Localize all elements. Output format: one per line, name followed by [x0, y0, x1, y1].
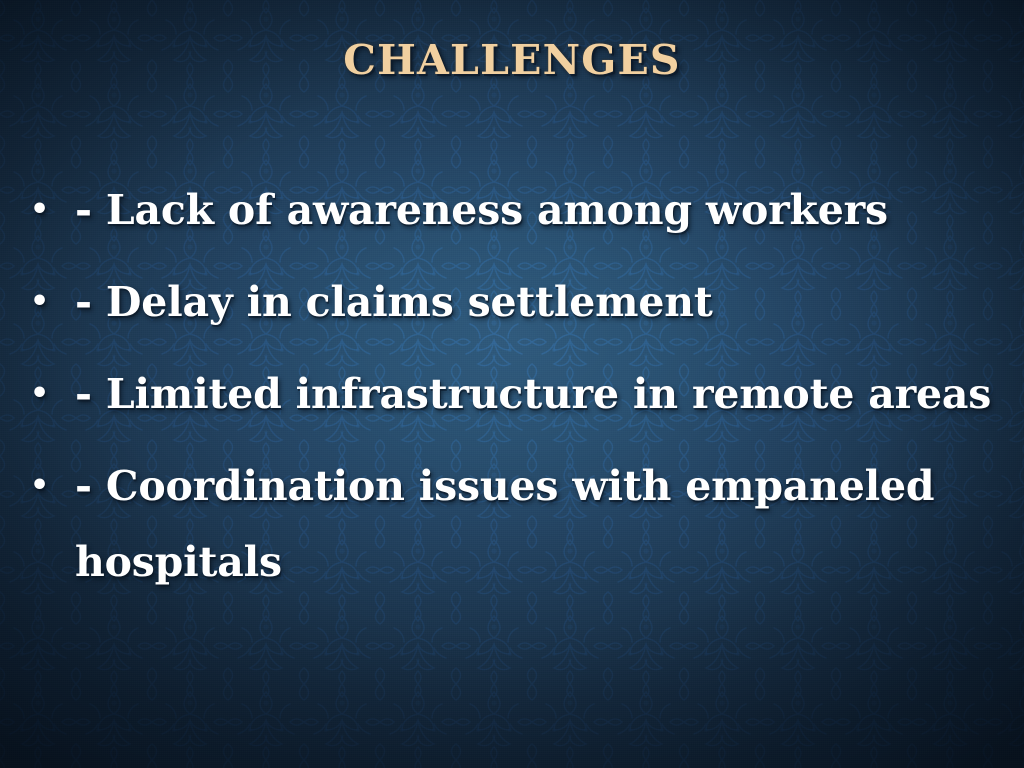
presentation-slide: CHALLENGES • - Lack of awareness among w… — [0, 0, 1024, 768]
list-item: • - Limited infrastructure in remote are… — [22, 356, 1018, 432]
list-item: • - Lack of awareness among workers — [22, 172, 1018, 248]
bullet-list: • - Lack of awareness among workers • - … — [22, 172, 1018, 616]
list-item-label: - Limited infrastructure in remote areas — [75, 356, 1018, 432]
bullet-point-icon: • — [30, 356, 49, 432]
bullet-point-icon: • — [30, 448, 49, 524]
list-item-label: - Lack of awareness among workers — [75, 172, 1018, 248]
slide-title: CHALLENGES — [0, 36, 1024, 84]
list-item: • - Coordination issues with empaneled h… — [22, 448, 1018, 600]
slide-content: CHALLENGES • - Lack of awareness among w… — [0, 0, 1024, 768]
bullet-point-icon: • — [30, 264, 49, 340]
list-item: • - Delay in claims settlement — [22, 264, 1018, 340]
list-item-label: - Delay in claims settlement — [75, 264, 1018, 340]
list-item-label: - Coordination issues with empaneled hos… — [75, 448, 1018, 600]
bullet-point-icon: • — [30, 172, 49, 248]
